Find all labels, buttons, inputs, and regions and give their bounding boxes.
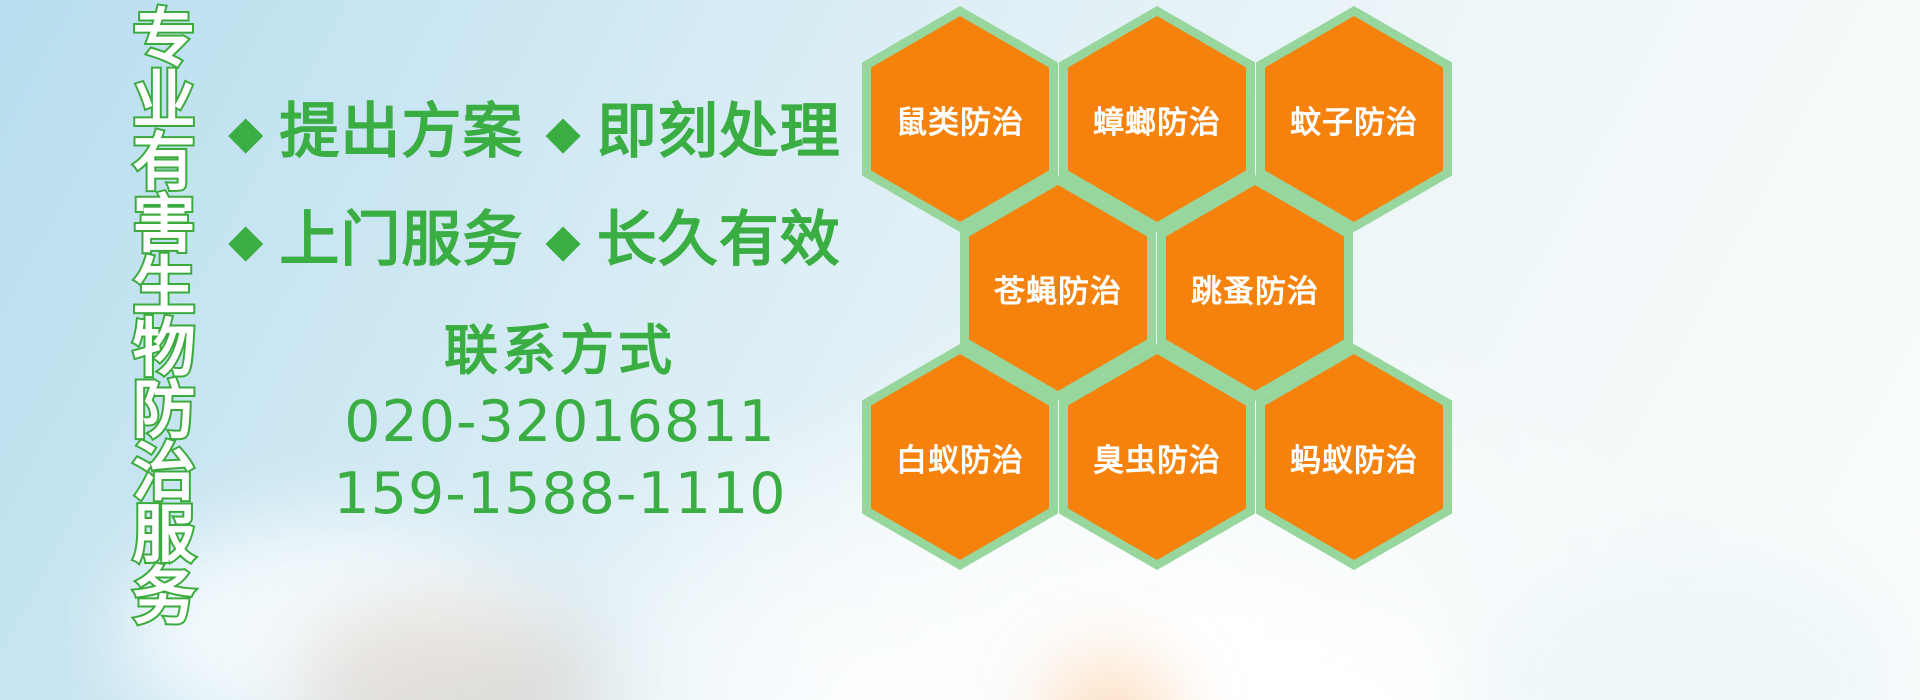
hex-inner: 蟑螂防治: [1068, 16, 1246, 222]
vertical-headline: 专 业 有 害 生 物 防 治 服 务: [112, 8, 216, 568]
hex-inner: 臭虫防治: [1068, 354, 1246, 560]
service-honeycomb: 鼠类防治 蟑螂防治 蚊子防治 苍蝇防治 跳蚤防治 白蚁防治: [862, 6, 1462, 566]
vertical-headline-char: 生: [133, 256, 196, 318]
diamond-bullet-icon: ◆: [228, 109, 263, 155]
feature-row: ◆ 上门服务 ◆ 长久有效: [228, 186, 868, 294]
vertical-headline-char: 治: [133, 442, 196, 504]
diamond-bullet-icon: ◆: [545, 109, 580, 155]
service-label: 臭虫防治: [1093, 435, 1221, 480]
contact-block: 联系方式 020-32016811 159-1588-1110: [300, 316, 820, 530]
hex-inner: 蚂蚁防治: [1265, 354, 1443, 560]
vertical-headline-char: 业: [133, 70, 196, 132]
hex-inner: 蚊子防治: [1265, 16, 1443, 222]
feature-label: 上门服务: [279, 210, 523, 270]
vertical-headline-char: 有: [133, 132, 196, 194]
service-label: 鼠类防治: [896, 97, 1024, 142]
feature-row: ◆ 提出方案 ◆ 即刻处理: [228, 78, 868, 186]
service-label: 苍蝇防治: [994, 266, 1122, 311]
feature-label: 长久有效: [597, 210, 841, 270]
vertical-headline-char: 防: [133, 380, 196, 442]
background-blob: [300, 600, 600, 700]
contact-phone-landline[interactable]: 020-32016811: [300, 386, 820, 458]
background-blob: [1050, 660, 1170, 700]
service-label: 白蚁防治: [896, 435, 1024, 480]
service-label: 蚂蚁防治: [1290, 435, 1418, 480]
hex-inner: 白蚁防治: [871, 354, 1049, 560]
pest-control-banner: 专 业 有 害 生 物 防 治 服 务 ◆ 提出方案 ◆ 即刻处理 ◆ 上门服务…: [0, 0, 1920, 700]
service-label: 蚊子防治: [1290, 97, 1418, 142]
hex-inner: 鼠类防治: [871, 16, 1049, 222]
vertical-headline-char: 物: [133, 318, 196, 380]
hex-inner: 跳蚤防治: [1166, 185, 1344, 391]
contact-phone-mobile[interactable]: 159-1588-1110: [300, 458, 820, 530]
service-label: 跳蚤防治: [1191, 266, 1319, 311]
background-blob: [1480, 560, 1900, 700]
feature-label: 即刻处理: [597, 102, 841, 162]
background-blob: [1020, 600, 1480, 700]
diamond-bullet-icon: ◆: [545, 217, 580, 263]
vertical-headline-char: 害: [133, 194, 196, 256]
feature-list: ◆ 提出方案 ◆ 即刻处理 ◆ 上门服务 ◆ 长久有效: [228, 78, 868, 294]
vertical-headline-char: 服: [133, 504, 196, 566]
service-label: 蟑螂防治: [1093, 97, 1221, 142]
vertical-headline-char: 务: [133, 566, 196, 628]
diamond-bullet-icon: ◆: [228, 217, 263, 263]
hex-inner: 苍蝇防治: [969, 185, 1147, 391]
vertical-headline-char: 专: [133, 8, 196, 70]
contact-title: 联系方式: [300, 316, 820, 386]
feature-label: 提出方案: [279, 102, 523, 162]
